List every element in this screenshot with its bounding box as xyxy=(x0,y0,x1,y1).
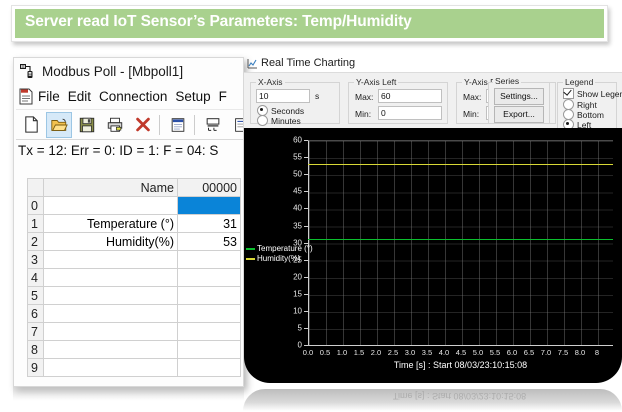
screenshot-root: Server read IoT Sensor’s Parameters: Tem… xyxy=(0,0,622,412)
row-index: 4 xyxy=(28,269,44,287)
x-tick-label: 8 xyxy=(595,348,599,357)
x-tick-label: 8.0 xyxy=(575,348,585,357)
series-line-temperature xyxy=(308,239,613,240)
title-banner-frame: Server read IoT Sensor’s Parameters: Tem… xyxy=(11,5,608,42)
document-icon xyxy=(18,88,34,105)
y-left-min-label: Min: xyxy=(355,109,371,119)
open-folder-icon[interactable] xyxy=(46,112,72,138)
row-index: 9 xyxy=(28,359,44,377)
row-name[interactable]: Temperature (°) xyxy=(44,215,178,233)
charting-window-title: Real Time Charting xyxy=(261,57,355,69)
chart-canvas[interactable]: 60 55 50 45 40 35 30 25 20 15 10 5 0 xyxy=(244,128,622,383)
x-axis-seconds-label: Seconds xyxy=(271,106,304,116)
x-tick-label: 6.0 xyxy=(507,348,517,357)
register-table: Name 00000 0 1 Temperature (°) 31 2 Humi xyxy=(27,178,241,377)
title-banner: Server read IoT Sensor’s Parameters: Tem… xyxy=(15,9,604,38)
row-index: 0 xyxy=(28,197,44,215)
row-name[interactable] xyxy=(44,251,178,269)
y-tick-label: 15 xyxy=(276,289,302,298)
row-name[interactable] xyxy=(44,323,178,341)
header-index xyxy=(28,179,44,197)
y-axis-left-group-label: Y-Axis Left xyxy=(354,77,398,87)
table-row[interactable]: 7 xyxy=(28,323,241,341)
legend-item-temperature: Temperature (°) xyxy=(246,244,313,253)
legend-right-label: Right xyxy=(577,100,597,110)
y-tick-label: 5 xyxy=(276,324,302,333)
table-header-row: Name 00000 xyxy=(28,179,241,197)
legend-item-humidity: Humidity(%) xyxy=(246,254,313,263)
show-legend-checkbox[interactable]: Show Legend xyxy=(563,88,622,99)
row-name[interactable]: Humidity(%) xyxy=(44,233,178,251)
x-tick-label: 5.5 xyxy=(490,348,500,357)
row-value[interactable] xyxy=(178,359,241,377)
save-disk-icon[interactable] xyxy=(74,112,100,138)
row-index: 6 xyxy=(28,305,44,323)
legend-swatch-temperature xyxy=(246,248,255,250)
legend-swatch-humidity xyxy=(246,258,255,260)
menu-item-edit[interactable]: Edit xyxy=(68,89,91,104)
y-axis-left-group: Y-Axis Left Max: 60 Min: 0 xyxy=(348,82,448,124)
row-index: 8 xyxy=(28,341,44,359)
x-tick-label: 1.0 xyxy=(337,348,347,357)
y-left-min-input[interactable]: 0 xyxy=(378,106,442,120)
row-value[interactable] xyxy=(178,269,241,287)
row-name[interactable] xyxy=(44,359,178,377)
modbus-poll-window: Modbus Poll - [Mbpoll1] File Edit Connec… xyxy=(13,57,244,387)
page-title: Server read IoT Sensor’s Parameters: Tem… xyxy=(25,13,412,31)
x-tick-label: 0.5 xyxy=(320,348,330,357)
y-tick-label: 50 xyxy=(276,170,302,179)
y-left-max-label: Max: xyxy=(355,92,373,102)
table-row[interactable]: 2 Humidity(%) 53 xyxy=(28,233,241,251)
x-axis-unit-label: s xyxy=(315,91,319,101)
chart-icon xyxy=(247,58,258,69)
row-index: 3 xyxy=(28,251,44,269)
row-value-selected[interactable] xyxy=(178,197,241,215)
menu-item-file[interactable]: File xyxy=(38,89,60,104)
y-tick-label: 0 xyxy=(276,341,302,350)
y-left-max-input[interactable]: 60 xyxy=(378,89,442,103)
y-tick-label: 60 xyxy=(276,136,302,145)
table-row[interactable]: 9 xyxy=(28,359,241,377)
charting-control-panel: X-Axis 10 s Seconds Minutes Y-Axis Left … xyxy=(244,72,622,128)
y-right-max-label: Max: xyxy=(463,92,481,102)
charting-title-bar: Real Time Charting xyxy=(247,57,355,69)
x-tick-label: 7.0 xyxy=(541,348,551,357)
row-value[interactable] xyxy=(178,305,241,323)
toolbar-separator-2 xyxy=(194,115,195,135)
x-tick-label: 3.0 xyxy=(405,348,415,357)
modbus-toolbar xyxy=(16,109,243,140)
chart-legend: Temperature (°) Humidity(%) xyxy=(246,244,313,264)
window-icon[interactable] xyxy=(165,112,191,138)
show-legend-label: Show Legend xyxy=(577,89,622,99)
x-tick-label: 4.0 xyxy=(439,348,449,357)
menu-item-functions[interactable]: F xyxy=(219,89,227,104)
table-row[interactable]: 4 xyxy=(28,269,241,287)
x-axis-duration-input[interactable]: 10 xyxy=(256,89,310,103)
x-axis-minutes-radio[interactable]: Minutes xyxy=(257,115,301,126)
y-right-min-label: Min: xyxy=(463,109,479,119)
x-axis-group-label: X-Axis xyxy=(256,77,285,87)
series-line-humidity xyxy=(308,164,613,165)
x-tick-label: 2.5 xyxy=(388,348,398,357)
x-tick-label: 3.5 xyxy=(422,348,432,357)
x-tick-label: 4.5 xyxy=(456,348,466,357)
y-tick-label: 10 xyxy=(276,307,302,316)
row-name[interactable] xyxy=(44,305,178,323)
x-axis-group: X-Axis 10 s Seconds Minutes xyxy=(250,82,340,124)
x-tick-label: 6.5 xyxy=(524,348,534,357)
row-name[interactable] xyxy=(44,269,178,287)
read-write-icon-2[interactable] xyxy=(228,112,244,138)
real-time-charting-window: Real Time Charting X-Axis 10 s Seconds M… xyxy=(243,54,622,398)
x-axis-line xyxy=(308,345,613,346)
plot-area xyxy=(308,140,613,345)
row-value[interactable]: 31 xyxy=(178,215,241,233)
legend-bottom-label: Bottom xyxy=(577,110,604,120)
x-tick-label: 5.0 xyxy=(473,348,483,357)
series-settings-button[interactable]: Settings... xyxy=(494,88,544,105)
legend-group: Legend Show Legend Right Bottom Left xyxy=(557,82,617,130)
row-value[interactable] xyxy=(178,323,241,341)
row-index: 1 xyxy=(28,215,44,233)
row-index: 2 xyxy=(28,233,44,251)
y-tick-label: 40 xyxy=(276,204,302,213)
new-file-icon[interactable] xyxy=(18,112,44,138)
row-value[interactable]: 53 xyxy=(178,233,241,251)
menu-item-setup[interactable]: Setup xyxy=(175,89,210,104)
x-tick-label: 1.5 xyxy=(354,348,364,357)
read-write-icon[interactable] xyxy=(200,112,226,138)
series-group-label: Series xyxy=(493,76,521,86)
header-name: Name xyxy=(44,179,178,197)
x-axis-minutes-label: Minutes xyxy=(271,116,301,126)
row-name[interactable] xyxy=(44,341,178,359)
checkbox-indicator xyxy=(563,88,574,99)
series-export-button[interactable]: Export... xyxy=(494,106,544,123)
row-value[interactable] xyxy=(178,251,241,269)
x-tick-label: 2.0 xyxy=(371,348,381,357)
delete-x-icon[interactable] xyxy=(130,112,156,138)
legend-group-label: Legend xyxy=(563,77,595,87)
modbus-menu-bar: File Edit Connection Setup F xyxy=(14,84,244,108)
y-tick-label: 45 xyxy=(276,187,302,196)
x-axis-title: Time [s] : Start 08/03/23:10:15:08 xyxy=(308,360,613,370)
table-row[interactable]: 0 xyxy=(28,197,241,215)
menu-item-connection[interactable]: Connection xyxy=(99,89,167,104)
row-index: 7 xyxy=(28,323,44,341)
legend-label-humidity: Humidity(%) xyxy=(257,254,301,263)
row-name[interactable] xyxy=(44,197,178,215)
x-tick-label: 0.0 xyxy=(303,348,313,357)
row-value[interactable] xyxy=(178,341,241,359)
table-row[interactable]: 8 xyxy=(28,341,241,359)
table-row[interactable]: 6 xyxy=(28,305,241,323)
modbus-window-reflection xyxy=(13,387,244,401)
modbus-window-title: Modbus Poll - [Mbpoll1] xyxy=(42,64,183,79)
reflection-text: Time [s] : Start 08/03/23:10:15:08 xyxy=(307,391,612,401)
toolbar-separator xyxy=(159,115,160,135)
charting-window-reflection: Time [s] : Start 08/03/23:10:15:08 xyxy=(243,389,622,411)
modbus-icon xyxy=(19,62,37,80)
table-row[interactable]: 5 xyxy=(28,287,241,305)
row-index: 5 xyxy=(28,287,44,305)
legend-label-temperature: Temperature (°) xyxy=(257,244,313,253)
row-name[interactable] xyxy=(44,287,178,305)
y-tick-label: 20 xyxy=(276,272,302,281)
radio-indicator xyxy=(257,115,268,126)
table-body: 0 1 Temperature (°) 31 2 Humidity(%) 53 … xyxy=(28,197,241,377)
print-icon[interactable] xyxy=(102,112,128,138)
y-tick-label: 55 xyxy=(276,153,302,162)
header-address: 00000 xyxy=(178,179,241,197)
modbus-status-line: Tx = 12: Err = 0: ID = 1: F = 04: S xyxy=(18,143,244,158)
y-tick-label: 35 xyxy=(276,221,302,230)
table-row[interactable]: 1 Temperature (°) 31 xyxy=(28,215,241,233)
x-tick-label: 7.5 xyxy=(558,348,568,357)
table-row[interactable]: 3 xyxy=(28,251,241,269)
row-value[interactable] xyxy=(178,287,241,305)
modbus-title-bar: Modbus Poll - [Mbpoll1] xyxy=(14,58,244,84)
